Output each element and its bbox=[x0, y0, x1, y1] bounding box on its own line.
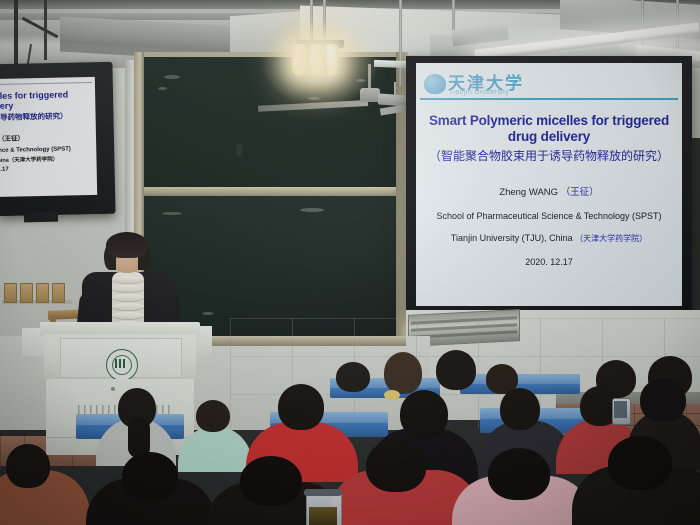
left-monitor-stand bbox=[24, 212, 58, 223]
award-item bbox=[52, 283, 65, 303]
audience bbox=[0, 366, 700, 525]
slide-presenter: Zheng WANG （王征） bbox=[416, 184, 682, 198]
audience-body bbox=[178, 426, 252, 472]
slide-divider bbox=[420, 98, 678, 100]
audience-head bbox=[436, 350, 476, 390]
audience-head bbox=[278, 384, 324, 430]
university-logo-en: Tianjin University bbox=[449, 89, 509, 96]
audience-head bbox=[384, 352, 422, 394]
audience-head bbox=[366, 440, 426, 492]
projection-screen[interactable]: 天津大学 Tianjin University Smart Polymeric … bbox=[416, 63, 682, 306]
slide-date: 2020. 12.17 bbox=[416, 257, 682, 267]
monitor-affiliation-1: ience & Technology (SPST) bbox=[0, 146, 93, 154]
slide-title-line2: drug delivery bbox=[416, 129, 682, 145]
blouse-ruffle bbox=[112, 276, 144, 283]
audience-head bbox=[488, 448, 550, 500]
university-logo: 天津大学 Tianjin University bbox=[422, 69, 676, 99]
audience-head bbox=[196, 400, 230, 432]
smartphone-screen bbox=[614, 401, 627, 418]
slide-affiliation-1: School of Pharmaceutical Science & Techn… bbox=[416, 211, 682, 221]
lecture-hall-photo: elles for triggered ivery 诱导药物释放的研究） G（王… bbox=[0, 0, 700, 525]
presenter-name-en: Zheng WANG bbox=[499, 187, 558, 198]
affiliation-cn: （天津大学药学院） bbox=[575, 234, 647, 243]
pendant-lamp-cluster bbox=[292, 44, 348, 78]
tea-leaves bbox=[309, 507, 337, 525]
award-item bbox=[4, 283, 17, 303]
presenter-name-cn: （王征） bbox=[561, 187, 599, 198]
audience-head bbox=[122, 452, 178, 500]
slide-affiliation-2: Tianjin University (TJU), China （天津大学药学院… bbox=[416, 233, 682, 244]
light-hanger-rod-3 bbox=[399, 0, 402, 86]
award-item bbox=[20, 283, 33, 303]
light-hanger-rod-4 bbox=[452, 0, 455, 30]
monitor-date: 12.17 bbox=[0, 165, 94, 173]
audience-head bbox=[640, 378, 686, 422]
presenter-hair bbox=[106, 232, 148, 258]
blackboard-rail bbox=[136, 187, 404, 196]
audience-head bbox=[336, 362, 370, 392]
university-logo-mark-icon bbox=[424, 74, 446, 94]
slide-title-cn: （智能聚合物胶束用于诱导药物释放的研究） bbox=[416, 147, 682, 164]
left-monitor-screen: elles for triggered ivery 诱导药物释放的研究） G（王… bbox=[0, 77, 97, 197]
slide-title: Smart Polymeric micelles for triggered d… bbox=[416, 113, 682, 146]
blouse-ruffle bbox=[112, 312, 144, 319]
tea-tumbler-lid[interactable] bbox=[304, 489, 342, 496]
audience-head bbox=[608, 436, 672, 490]
audience-head bbox=[240, 456, 302, 506]
affiliation-en: Tianjin University (TJU), China bbox=[451, 233, 573, 243]
monitor-affiliation-2: China（天津大学药学院） bbox=[0, 154, 94, 164]
audience-head bbox=[6, 444, 50, 488]
ceiling-pipe-diagonal bbox=[22, 17, 59, 38]
hair-tie bbox=[384, 390, 400, 400]
audience-head bbox=[500, 388, 540, 430]
audience-head bbox=[400, 390, 448, 438]
slide-title-line1: Smart Polymeric micelles for triggered bbox=[416, 113, 682, 129]
blouse-ruffle bbox=[112, 303, 144, 310]
award-item bbox=[36, 283, 49, 303]
ceiling-pipe-vertical bbox=[14, 0, 18, 72]
blouse-ruffle bbox=[112, 294, 144, 301]
blouse-ruffle bbox=[112, 285, 144, 292]
